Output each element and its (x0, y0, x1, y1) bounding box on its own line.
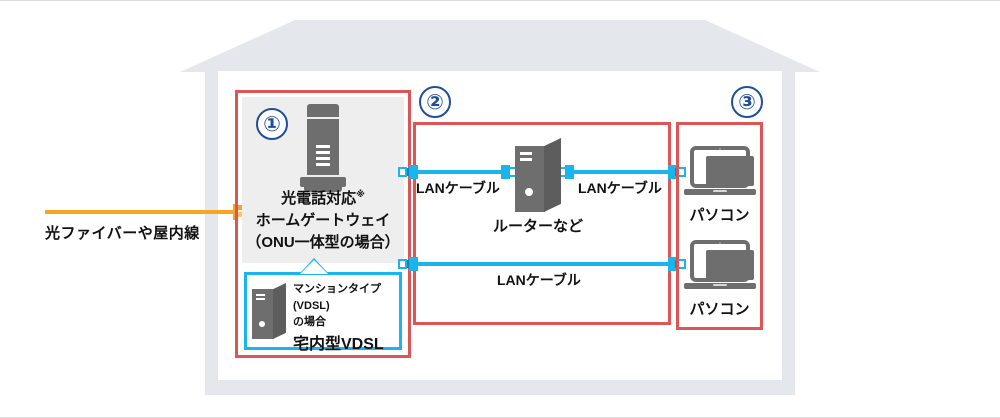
lan-cable-segment-gateway-to-pc2 (409, 262, 676, 266)
lan-cable-label-right: LANケーブル (578, 178, 662, 198)
vdsl-text-line3: 宅内型VDSL (293, 333, 399, 357)
home-gateway-tower-icon (300, 104, 346, 192)
laptop-icon (684, 146, 756, 198)
home-gateway-label-line1: 光電話対応 (281, 190, 356, 207)
pc-label-2: パソコン (676, 298, 763, 319)
home-gateway-label-line2: ホームゲートウェイ (256, 212, 391, 229)
pc-label-1: パソコン (676, 204, 763, 225)
home-gateway-label-line3: （ONU一体型の場合） (246, 234, 399, 251)
vdsl-text-line2: の場合 (293, 316, 326, 328)
vdsl-callout-text: マンションタイプ(VDSL) の場合 宅内型VDSL (293, 281, 399, 357)
home-gateway-label-superscript: ※ (356, 189, 365, 199)
vdsl-tower-icon (252, 283, 286, 339)
home-gateway-label-block: 光電話対応※ ホームゲートウェイ （ONU一体型の場合） (242, 188, 404, 253)
lan-cable-label-bottom: LANケーブル (497, 270, 581, 290)
house-roof-shape (180, 20, 820, 72)
lan-cable-segment-router-to-pc1 (566, 170, 676, 174)
lan-plug-gateway-lower (398, 257, 414, 271)
router-label: ルーターなど (492, 215, 584, 236)
lan-plug-gateway-upper (398, 165, 414, 179)
vdsl-callout-pointer (300, 258, 328, 274)
laptop-icon (684, 240, 756, 292)
group-number-2: ② (419, 86, 451, 118)
lan-cable-segment-gateway-to-router (409, 170, 507, 174)
network-diagram-canvas: 光ファイバーや屋内線 ① 光電話対応※ ホームゲートウェイ （ONU一体型の場合… (0, 0, 1000, 418)
vdsl-text-line1: マンションタイプ(VDSL) (293, 283, 381, 312)
lan-cable-label-left: LANケーブル (416, 178, 500, 198)
group-number-3: ③ (731, 86, 763, 118)
group-number-1: ① (256, 108, 288, 140)
router-tower-icon (515, 138, 561, 212)
top-divider (0, 0, 1000, 1)
fiber-line (45, 210, 236, 214)
